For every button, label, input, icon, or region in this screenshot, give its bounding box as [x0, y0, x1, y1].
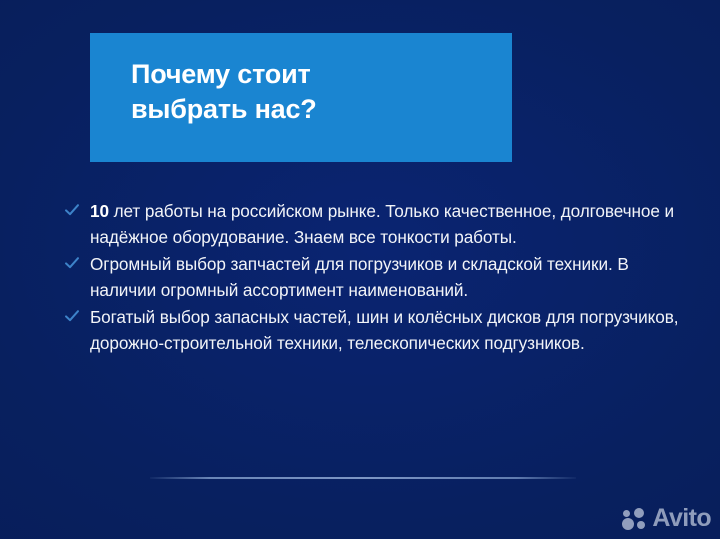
- list-item: Богатый выбор запасных частей, шин и кол…: [62, 304, 682, 356]
- list-item-text: Огромный выбор запчастей для погрузчиков…: [90, 254, 629, 300]
- check-icon: [64, 255, 80, 271]
- presentation-slide: Почему стоит выбрать нас? 10 лет работы …: [0, 0, 720, 539]
- page-title: Почему стоит выбрать нас?: [131, 57, 491, 126]
- list-item: Огромный выбор запчастей для погрузчиков…: [62, 251, 682, 303]
- title-banner: Почему стоит выбрать нас?: [90, 33, 512, 162]
- list-item-text: лет работы на российском рынке. Только к…: [90, 201, 674, 247]
- list-item: 10 лет работы на российском рынке. Тольк…: [62, 198, 682, 250]
- list-item-lead: 10: [90, 201, 109, 221]
- benefits-list: 10 лет работы на российском рынке. Тольк…: [62, 198, 682, 357]
- check-icon: [64, 308, 80, 324]
- avito-wordmark: Avito: [652, 506, 711, 531]
- list-item-text: Богатый выбор запасных частей, шин и кол…: [90, 307, 678, 353]
- avito-dots-icon: [622, 508, 648, 530]
- avito-watermark: Avito: [622, 506, 711, 531]
- divider: [150, 477, 576, 479]
- check-icon: [64, 202, 80, 218]
